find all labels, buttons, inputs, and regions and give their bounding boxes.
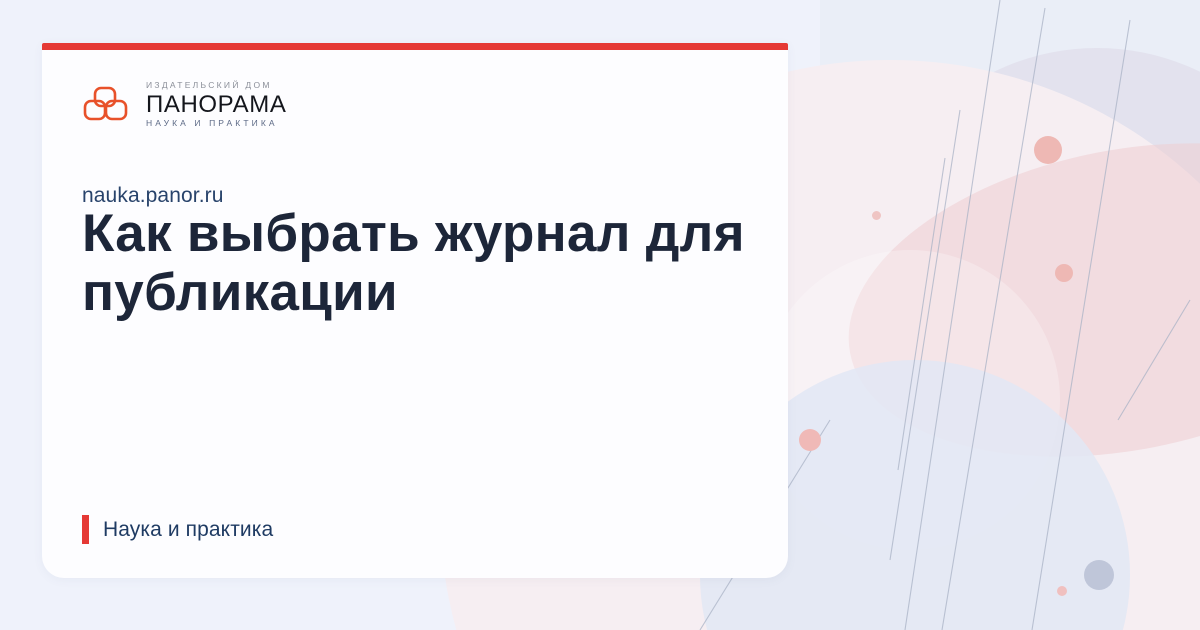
panorama-logo-mark — [82, 84, 134, 124]
page-title: Как выбрать журнал для публикации — [82, 204, 772, 323]
grey-dot — [1084, 560, 1114, 590]
pink-dot-small — [1057, 586, 1067, 596]
card-top-accent-bar — [42, 43, 788, 50]
footer-accent-bar — [82, 515, 89, 544]
pink-dot-left — [799, 429, 821, 451]
pink-dot-tiny — [872, 211, 881, 220]
logo-kicker: ИЗДАТЕЛЬСКИЙ ДОМ — [146, 81, 286, 90]
logo-name: ПАНОРАМА — [146, 93, 286, 117]
pink-dot-medium — [1055, 264, 1073, 282]
pink-dot-large — [1034, 136, 1062, 164]
logo-subtitle: НАУКА И ПРАКТИКА — [146, 119, 286, 128]
footer-category: Наука и практика — [82, 515, 273, 544]
footer-category-label: Наука и практика — [103, 518, 273, 542]
content-card: ИЗДАТЕЛЬСКИЙ ДОМ ПАНОРАМА НАУКА И ПРАКТИ… — [42, 43, 788, 578]
publisher-logo-text: ИЗДАТЕЛЬСКИЙ ДОМ ПАНОРАМА НАУКА И ПРАКТИ… — [146, 81, 286, 127]
social-card-canvas: ИЗДАТЕЛЬСКИЙ ДОМ ПАНОРАМА НАУКА И ПРАКТИ… — [0, 0, 1200, 630]
publisher-logo[interactable]: ИЗДАТЕЛЬСКИЙ ДОМ ПАНОРАМА НАУКА И ПРАКТИ… — [82, 81, 286, 127]
